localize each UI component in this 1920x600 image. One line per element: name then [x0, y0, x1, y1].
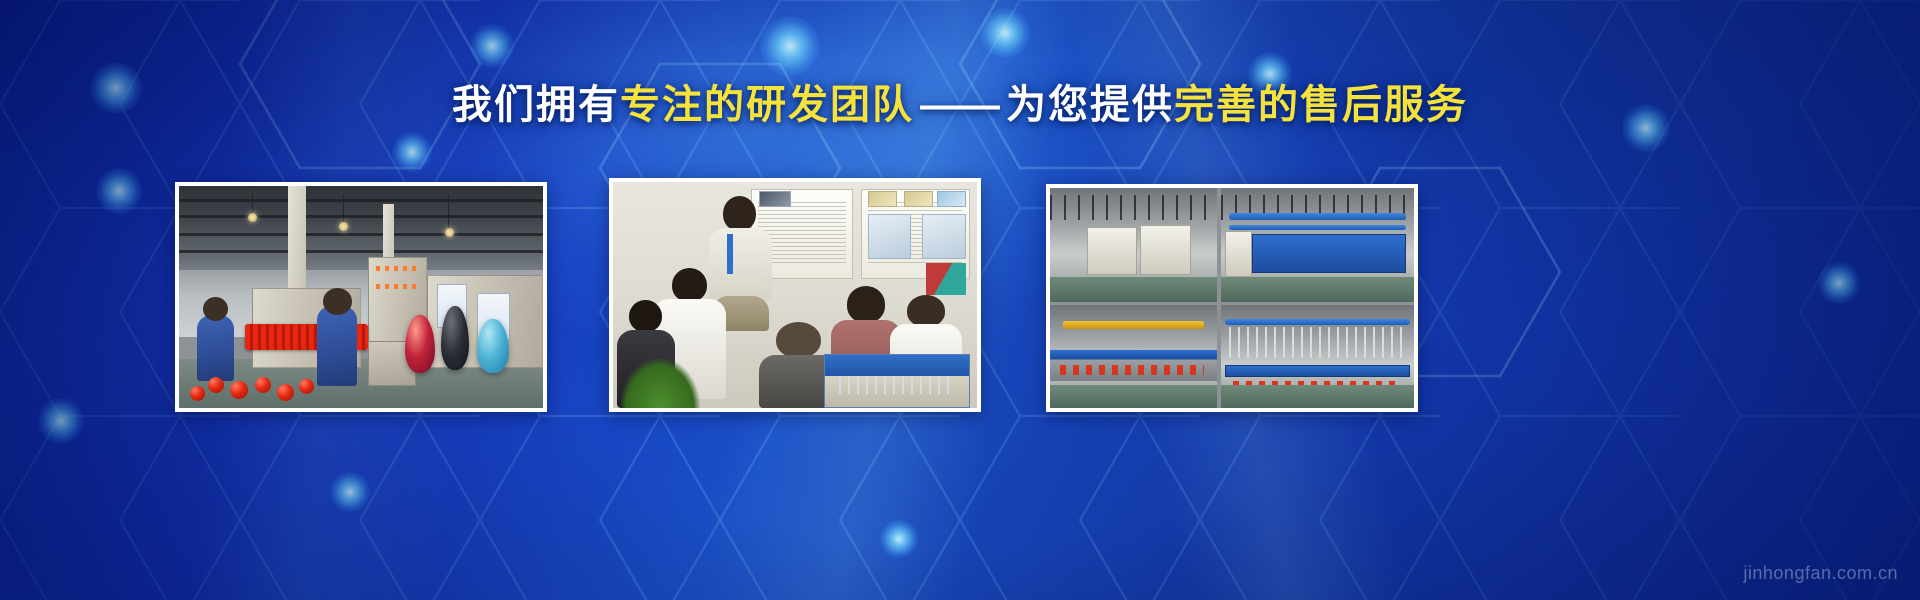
workshop-floor [1221, 385, 1414, 408]
promotional-banner: 我们拥有专注的研发团队——为您提供完善的售后服务 [0, 0, 1920, 600]
poster-diagram [922, 214, 966, 259]
composite-cell-top-right [1221, 188, 1414, 302]
composite-cell-bottom-right [1221, 305, 1414, 408]
seated-man-right-head [907, 295, 945, 327]
roof-beam [179, 199, 543, 202]
roof-beam [179, 250, 543, 253]
poster-thumbnail [937, 191, 966, 207]
lamp-wire [252, 193, 253, 215]
worker-left [197, 315, 233, 382]
photo-team-meeting-image [613, 182, 977, 408]
headline-segment-4: 完善的售后服务 [1174, 83, 1468, 127]
red-sphere [190, 386, 205, 401]
headline: 我们拥有专注的研发团队——为您提供完善的售后服务 [0, 82, 1920, 128]
headline-separator: —— [914, 83, 1006, 127]
glass-vase-red [405, 315, 435, 373]
indicator-lights [376, 284, 420, 289]
workshop-floor [1221, 277, 1414, 302]
ceiling-lamp [445, 228, 454, 237]
ceiling-lamp [248, 213, 257, 222]
poster-diagram [868, 214, 912, 259]
poster-chart [926, 263, 966, 295]
headline-segment-3: 为您提供 [1006, 83, 1174, 127]
seated-woman-right-head [847, 286, 886, 323]
photo-card-factory-line[interactable] [175, 182, 547, 412]
lamp-wire [343, 195, 344, 224]
roof-beam [179, 233, 543, 236]
workshop-floor [1050, 277, 1217, 302]
ceiling-lamp [339, 222, 348, 231]
seated-woman-head [629, 300, 662, 333]
control-unit [1225, 231, 1252, 277]
foreground-head [776, 322, 821, 358]
presenter-lanyard [727, 234, 732, 275]
lamp-wire [448, 195, 449, 231]
potted-plant [620, 358, 700, 408]
indicator-lights [376, 266, 420, 271]
red-sphere [277, 384, 294, 401]
seated-man-head [672, 268, 707, 302]
blue-pipe [1229, 213, 1406, 220]
poster-thumbnail [904, 191, 933, 207]
headline-segment-1: 我们拥有 [452, 83, 620, 127]
conveyor-frame [1225, 365, 1410, 377]
composite-cell-bottom-left [1050, 305, 1217, 408]
hanger-array [1229, 327, 1406, 358]
worker-center [317, 306, 357, 386]
headline-segment-2: 专注的研发团队 [620, 83, 914, 127]
spray-booth [1140, 225, 1190, 275]
photo-card-team-meeting[interactable] [609, 178, 981, 412]
roof-beam [179, 215, 543, 218]
photo-factory-line-image [179, 186, 543, 408]
worker-center-head [323, 288, 352, 315]
presenter-head [723, 196, 756, 231]
workshop-floor [1050, 385, 1217, 408]
roof-truss [1050, 195, 1217, 220]
blue-pipe [1229, 225, 1406, 230]
overhead-rail [1225, 319, 1410, 325]
overhead-crane-beam [1063, 321, 1204, 329]
red-workpieces [1060, 365, 1204, 375]
red-sphere [208, 377, 224, 393]
machine-detail [839, 376, 955, 394]
photo-card-workshop-composite[interactable] [1046, 184, 1418, 412]
composite-cell-top-left [1050, 188, 1217, 302]
poster-thumbnail [868, 191, 897, 207]
spray-booth [1087, 227, 1137, 275]
site-watermark: jinhongfan.com.cn [1743, 563, 1898, 584]
photo-workshop-composite-image [1050, 188, 1414, 408]
blue-oven-unit [1252, 234, 1406, 273]
